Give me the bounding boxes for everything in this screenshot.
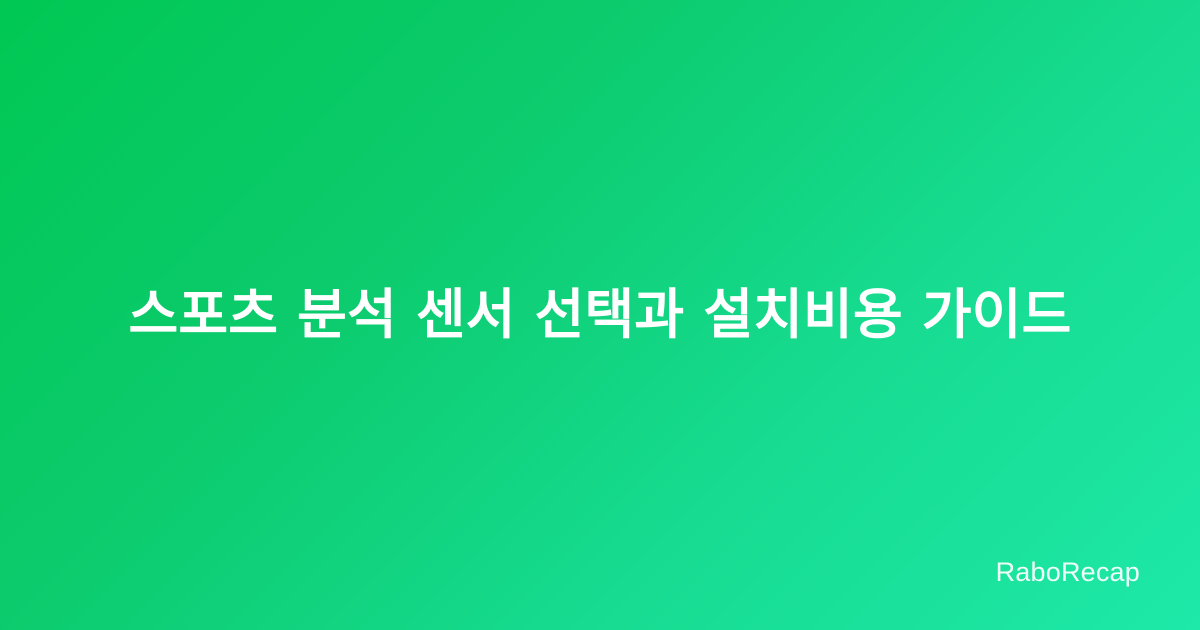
share-card: 스포츠 분석 센서 선택과 설치비용 가이드 RaboRecap xyxy=(0,0,1200,630)
title-container: 스포츠 분석 센서 선택과 설치비용 가이드 xyxy=(0,0,1200,630)
brand-wordmark: RaboRecap xyxy=(996,559,1140,586)
page-title: 스포츠 분석 센서 선택과 설치비용 가이드 xyxy=(70,280,1130,350)
